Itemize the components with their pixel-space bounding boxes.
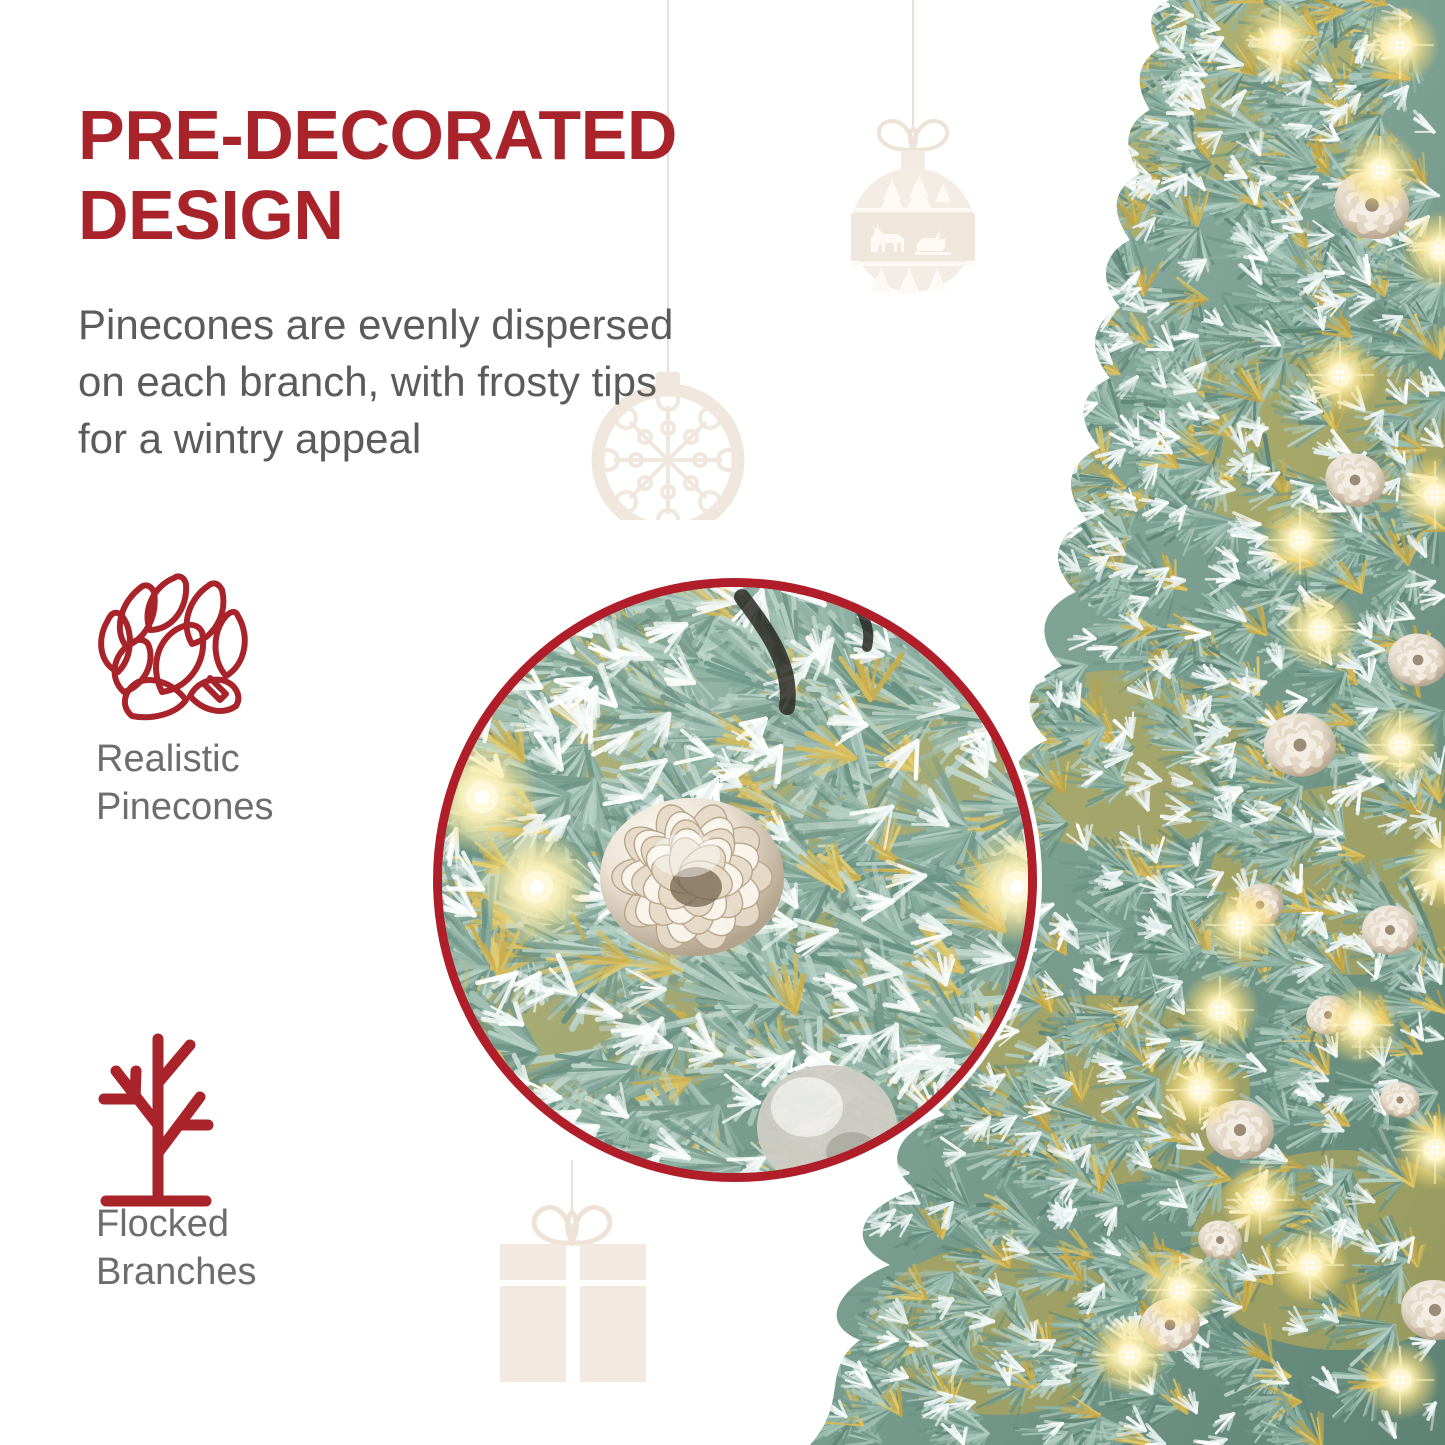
page-title: PRE-DECORATED DESIGN (78, 95, 778, 255)
feature-realistic-pinecones: Realistic Pinecones (78, 560, 398, 831)
tree-light (1180, 970, 1260, 1050)
tree-light (1340, 130, 1420, 210)
tree-light (1140, 1250, 1220, 1330)
feature-flocked-branches: Flocked Branches (78, 1025, 398, 1296)
tree-light (1300, 335, 1380, 415)
pinecone-icon (78, 560, 398, 735)
pinecone-closeup (600, 798, 784, 956)
tree-light (1220, 1160, 1300, 1240)
tree-light (1270, 1225, 1350, 1305)
infographic-canvas: PRE-DECORATED DESIGN Pinecones are evenl… (0, 0, 1445, 1445)
tree-light (1240, 0, 1320, 80)
tree-light (1200, 885, 1280, 965)
tree-light (1160, 1050, 1240, 1130)
feature-label: Realistic Pinecones (78, 735, 398, 831)
pinecone-closeup-callout (433, 578, 1037, 1182)
tree-light (1280, 590, 1360, 670)
tree-light (1360, 1340, 1440, 1420)
tree-light (1360, 705, 1440, 785)
feature-label: Flocked Branches (78, 1200, 398, 1296)
tree-light (1090, 1315, 1170, 1395)
tree-light (479, 829, 595, 945)
tree-light (1360, 5, 1440, 85)
bare-branch-tree-icon (78, 1025, 398, 1200)
tree-light (1320, 985, 1400, 1065)
page-subtitle: Pinecones are evenly dispersed on each b… (78, 296, 778, 467)
magnifier-contents (442, 587, 1037, 1182)
tree-light (1260, 500, 1340, 580)
gift-box-watermark (470, 1160, 670, 1445)
